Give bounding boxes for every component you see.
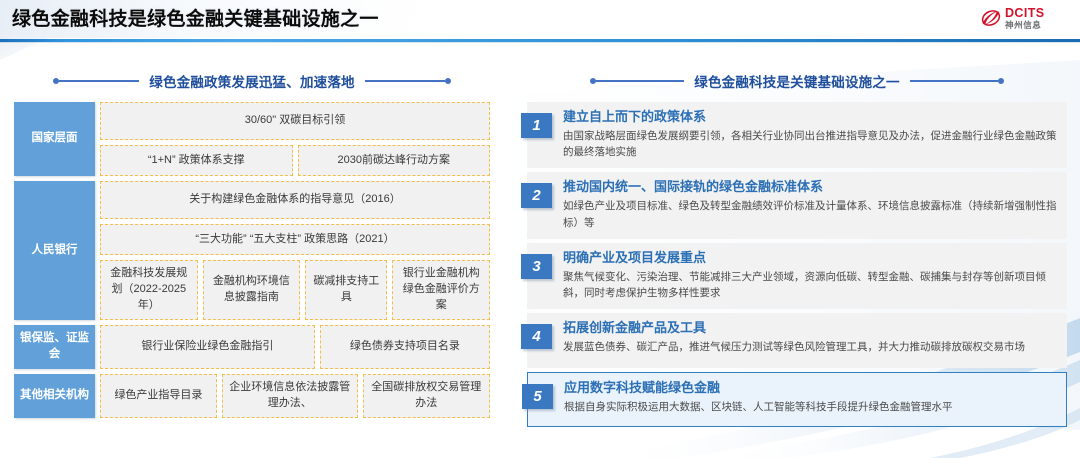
header-divider-soft [0, 42, 1080, 43]
matrix-row-label: 其他相关机构 [14, 374, 95, 418]
policy-cell[interactable]: 碳减排支持工具 [305, 260, 387, 320]
right-section-heading: 绿色金融科技是关键基础设施之一 [527, 68, 1067, 94]
matrix-cell-line: 30/60" 双碳目标引领 [100, 102, 490, 140]
item-body: 建立自上而下的政策体系由国家战略层面绿色发展纲要引领，各相关行业协同出台推进指导… [563, 109, 1057, 160]
matrix-cell-line: “1+N” 政策体系支撑2030前碳达峰行动方案 [100, 145, 490, 176]
list-item[interactable]: 4拓展创新金融产品及工具发展蓝色债券、碳汇产品，推进气候压力测试等绿色风险管理工… [527, 313, 1067, 368]
policy-cell[interactable]: 银行业保险业绿色金融指引 [100, 325, 315, 369]
policy-cell[interactable]: 30/60" 双碳目标引领 [100, 102, 490, 140]
item-body: 拓展创新金融产品及工具发展蓝色债券、碳汇产品，推进气候压力测试等绿色风险管理工具… [563, 320, 1057, 355]
item-number-badge: 5 [522, 384, 553, 409]
matrix-row-label: 国家层面 [14, 102, 95, 176]
policy-cell[interactable]: 关于构建绿色金融体系的指导意见（2016） [100, 181, 490, 219]
item-title: 建立自上而下的政策体系 [563, 109, 1057, 126]
logo-text-cn: 神州信息 [1005, 21, 1045, 30]
heading-rule-right [910, 78, 1004, 84]
item-body: 明确产业及项目发展重点聚焦气候变化、污染治理、节能减排三大产业领域，资源向低碳、… [563, 250, 1057, 301]
matrix-row: 人民银行关于构建绿色金融体系的指导意见（2016）“三大功能” “五大支柱” 政… [14, 181, 490, 320]
green-fintech-panel: 绿色金融科技是关键基础设施之一 1建立自上而下的政策体系由国家战略层面绿色发展纲… [527, 68, 1067, 427]
matrix-row-cells: 银行业保险业绿色金融指引绿色债券支持项目名录 [100, 325, 490, 369]
heading-rule-left [53, 78, 139, 84]
matrix-cell-line: 银行业保险业绿色金融指引绿色债券支持项目名录 [100, 325, 490, 369]
item-description: 由国家战略层面绿色发展纲要引领，各相关行业协同出台推进指导意见及办法，促进金融行… [563, 128, 1057, 161]
numbered-item-list: 1建立自上而下的政策体系由国家战略层面绿色发展纲要引领，各相关行业协同出台推进指… [527, 102, 1067, 427]
slide-header: 绿色金融科技是绿色金融关键基础设施之一 DCITS 神州信息 [0, 0, 1080, 44]
matrix-row-cells: 30/60" 双碳目标引领“1+N” 政策体系支撑2030前碳达峰行动方案 [100, 102, 490, 176]
matrix-cell-line: “三大功能” “五大支柱” 政策思路（2021） [100, 224, 490, 255]
policy-cell[interactable]: “1+N” 政策体系支撑 [100, 145, 293, 176]
matrix-row-label: 银保监、证监会 [14, 325, 95, 369]
policy-cell[interactable]: 企业环境信息依法披露管理办法、 [222, 374, 358, 418]
heading-rule-right [365, 78, 451, 84]
policy-matrix-panel: 绿色金融政策发展迅猛、加速落地 国家层面30/60" 双碳目标引领“1+N” 政… [14, 68, 490, 418]
matrix-row: 其他相关机构绿色产业指导目录企业环境信息依法披露管理办法、全国碳排放权交易管理办… [14, 374, 490, 418]
heading-dot-right-icon [445, 78, 451, 84]
item-number-badge: 4 [521, 324, 552, 349]
item-title: 应用数字科技赋能绿色金融 [564, 380, 1056, 397]
item-description: 聚焦气候变化、污染治理、节能减排三大产业领域，资源向低碳、转型金融、碳捕集与封存… [563, 269, 1057, 302]
right-section-title: 绿色金融科技是关键基础设施之一 [694, 71, 900, 91]
item-number-badge: 2 [521, 183, 552, 208]
item-description: 根据自身实际积极运用大数据、区块链、人工智能等科技手段提升绿色金融管理水平 [564, 399, 1056, 415]
policy-cell[interactable]: 银行业金融机构绿色金融评价方案 [392, 260, 490, 320]
policy-matrix: 国家层面30/60" 双碳目标引领“1+N” 政策体系支撑2030前碳达峰行动方… [14, 102, 490, 418]
matrix-row: 国家层面30/60" 双碳目标引领“1+N” 政策体系支撑2030前碳达峰行动方… [14, 102, 490, 176]
matrix-row-cells: 关于构建绿色金融体系的指导意见（2016）“三大功能” “五大支柱” 政策思路（… [100, 181, 490, 320]
list-item-highlighted[interactable]: 5应用数字科技赋能绿色金融根据自身实际积极运用大数据、区块链、人工智能等科技手段… [527, 372, 1067, 427]
heading-rule-left [590, 78, 684, 84]
page-title: 绿色金融科技是绿色金融关键基础设施之一 [12, 4, 379, 31]
matrix-cell-line: 绿色产业指导目录企业环境信息依法披露管理办法、全国碳排放权交易管理办法 [100, 374, 490, 418]
item-body: 应用数字科技赋能绿色金融根据自身实际积极运用大数据、区块链、人工智能等科技手段提… [564, 380, 1056, 415]
item-title: 推动国内统一、国际接轨的绿色金融标准体系 [563, 179, 1057, 196]
item-description: 如绿色产业及项目标准、绿色及转型金融绩效评价标准及计量体系、环境信息披露标准（持… [563, 198, 1057, 231]
item-number-badge: 1 [521, 113, 552, 138]
heading-dot-right-icon [998, 78, 1004, 84]
matrix-row-cells: 绿色产业指导目录企业环境信息依法披露管理办法、全国碳排放权交易管理办法 [100, 374, 490, 418]
policy-cell[interactable]: 2030前碳达峰行动方案 [298, 145, 491, 176]
logo-text-en: DCITS [1005, 7, 1045, 20]
matrix-cell-line: 金融科技发展规划（2022-2025年）金融机构环境信息披露指南碳减排支持工具银… [100, 260, 490, 320]
policy-cell[interactable]: “三大功能” “五大支柱” 政策思路（2021） [100, 224, 490, 255]
policy-cell[interactable]: 金融机构环境信息披露指南 [203, 260, 301, 320]
left-section-heading: 绿色金融政策发展迅猛、加速落地 [14, 68, 490, 94]
list-item[interactable]: 3明确产业及项目发展重点聚焦气候变化、污染治理、节能减排三大产业领域，资源向低碳… [527, 243, 1067, 309]
item-title: 明确产业及项目发展重点 [563, 250, 1057, 267]
matrix-row: 银保监、证监会银行业保险业绿色金融指引绿色债券支持项目名录 [14, 325, 490, 369]
dcits-swoosh-icon [980, 7, 1002, 29]
policy-cell[interactable]: 绿色债券支持项目名录 [320, 325, 490, 369]
matrix-cell-line: 关于构建绿色金融体系的指导意见（2016） [100, 181, 490, 219]
item-title: 拓展创新金融产品及工具 [563, 320, 1057, 337]
matrix-row-label: 人民银行 [14, 181, 95, 320]
list-item[interactable]: 2推动国内统一、国际接轨的绿色金融标准体系如绿色产业及项目标准、绿色及转型金融绩… [527, 172, 1067, 238]
left-section-title: 绿色金融政策发展迅猛、加速落地 [149, 71, 355, 91]
policy-cell[interactable]: 绿色产业指导目录 [100, 374, 217, 418]
list-item[interactable]: 1建立自上而下的政策体系由国家战略层面绿色发展纲要引领，各相关行业协同出台推进指… [527, 102, 1067, 168]
item-body: 推动国内统一、国际接轨的绿色金融标准体系如绿色产业及项目标准、绿色及转型金融绩效… [563, 179, 1057, 230]
policy-cell[interactable]: 全国碳排放权交易管理办法 [363, 374, 490, 418]
item-number-badge: 3 [521, 254, 552, 279]
item-description: 发展蓝色债券、碳汇产品，推进气候压力测试等绿色风险管理工具，并大力推动碳排放碳权… [563, 339, 1057, 355]
policy-cell[interactable]: 金融科技发展规划（2022-2025年） [100, 260, 198, 320]
brand-logo: DCITS 神州信息 [980, 3, 1072, 33]
